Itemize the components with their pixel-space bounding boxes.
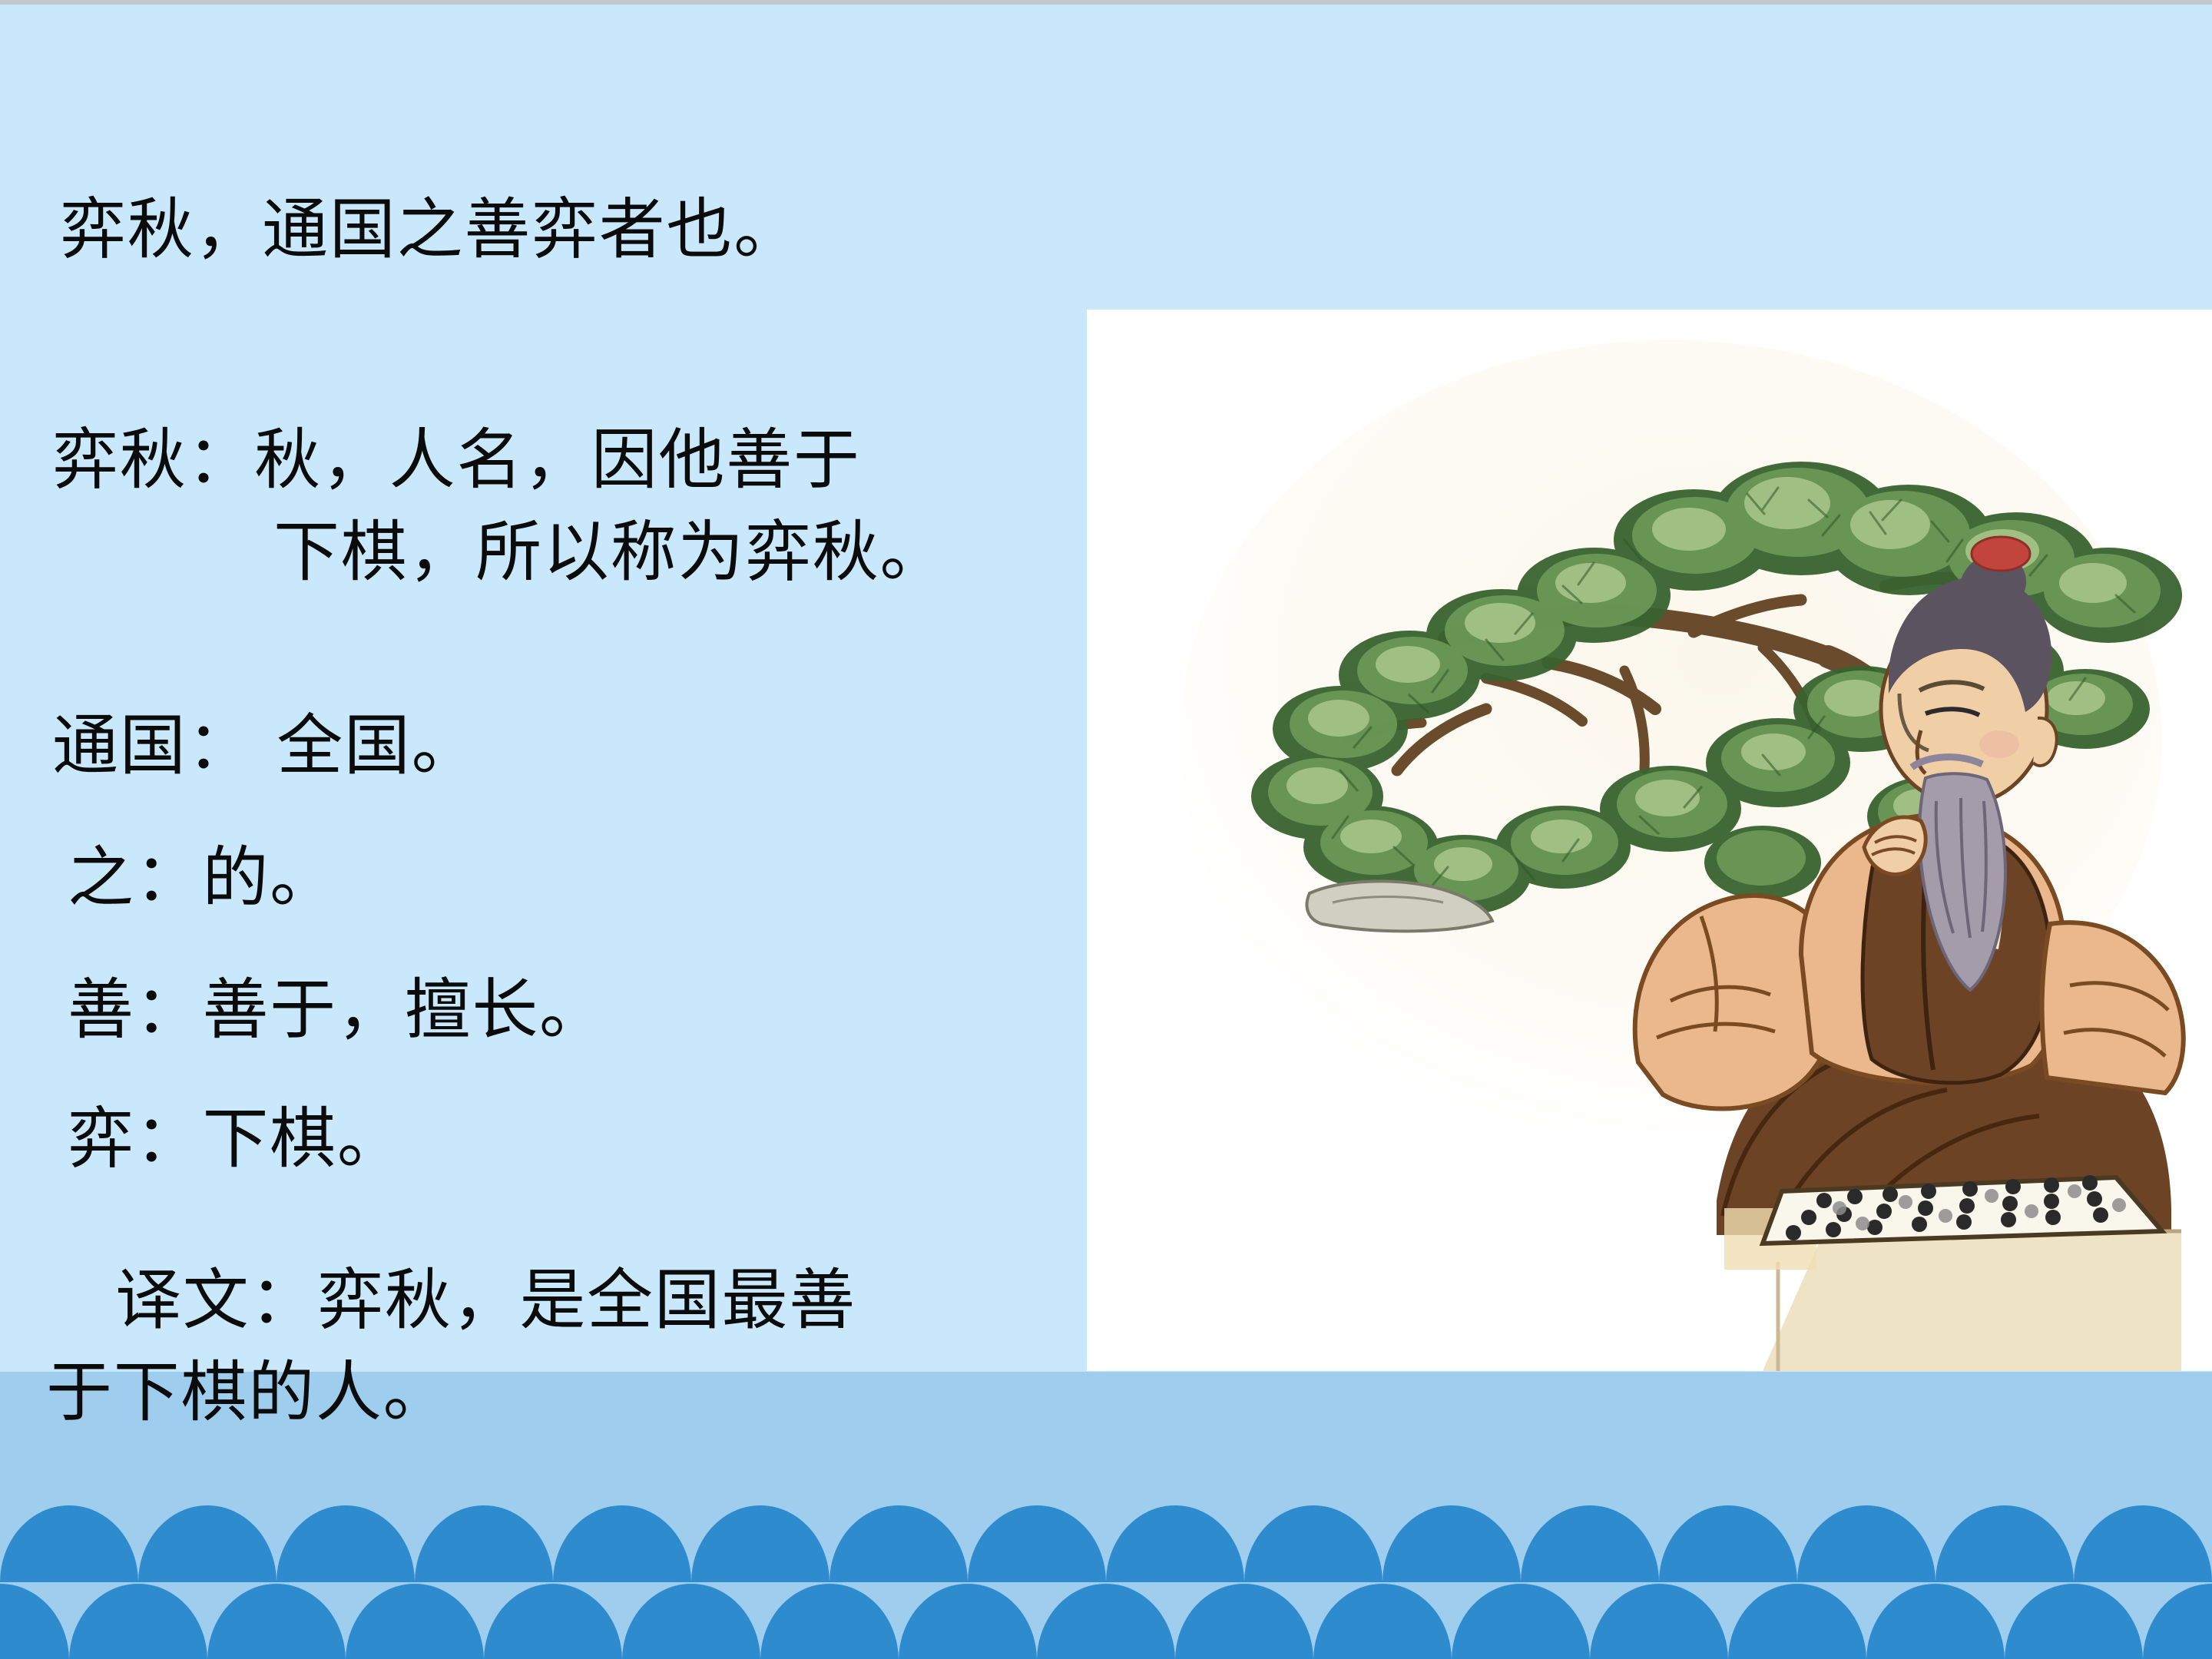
annotation-shan: 善：善于，擅长。 (68, 955, 607, 1051)
annotation-text-column: 弈秋，通国之善弈者也。 弈秋：秋，人名，因他善于 下棋，所以称为弈秋。 通国： … (0, 0, 1091, 1382)
scallop-pattern (0, 1490, 2212, 1659)
classic-sentence: 弈秋，通国之善弈者也。 (60, 175, 801, 271)
scallop-row-top (0, 1505, 2212, 1582)
slide-canvas: 弈秋，通国之善弈者也。 弈秋：秋，人名，因他善于 下棋，所以称为弈秋。 通国： … (0, 0, 2212, 1659)
scallop-row-bottom (0, 1584, 2212, 1659)
annotation-yi: 弈：下棋。 (68, 1084, 405, 1181)
annotation-tongguo: 通国： 全国。 (52, 691, 478, 787)
illustration-canvas (1087, 310, 2212, 1371)
translation-line1: 译文：弈秋，是全国最善 (115, 1246, 856, 1342)
scholar-go-game-illustration (1087, 310, 2212, 1371)
illustration-panel (1087, 310, 2212, 1371)
annotation-yiqiu-line1: 弈秋：秋，人名，因他善于 (52, 406, 861, 502)
footer-scallop-band (0, 1490, 2212, 1659)
annotation-zhi: 之：的。 (68, 823, 337, 919)
annotation-yiqiu-line2: 下棋，所以称为弈秋。 (273, 498, 947, 594)
translation-line2: 于下棋的人。 (46, 1338, 450, 1434)
